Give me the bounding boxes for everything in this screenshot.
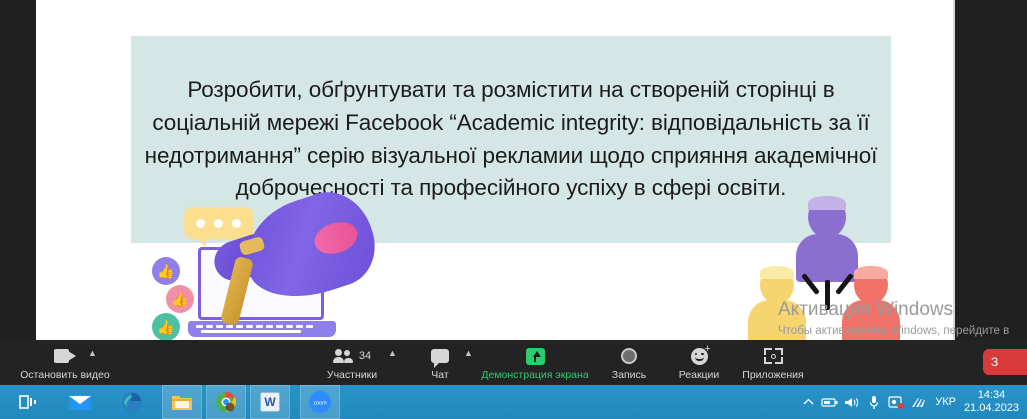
- screenshot-icon[interactable]: [885, 385, 907, 419]
- video-camera-icon: [54, 346, 76, 366]
- task-view-icon[interactable]: [8, 385, 48, 419]
- chat-bubble-graphic: [184, 207, 254, 239]
- screen: Розробити, обґрунтувати та розмістити на…: [0, 0, 1027, 419]
- reactions-label: Реакции: [679, 369, 720, 381]
- chrome-browser-icon[interactable]: [206, 385, 246, 419]
- svg-text:zoom: zoom: [313, 401, 327, 407]
- svg-text:W: W: [264, 395, 276, 409]
- bubble-dot: [232, 219, 241, 228]
- clock-date: 21.04.2023: [964, 402, 1019, 415]
- participants-count: 34: [359, 350, 371, 362]
- apps-bracket-icon: [764, 346, 783, 366]
- end-meeting-button[interactable]: З: [983, 349, 1027, 375]
- share-screen-button[interactable]: Демонстрация экрана: [482, 342, 588, 384]
- record-label: Запись: [612, 369, 646, 381]
- bubble-dot: [214, 219, 223, 228]
- keyboard-row: [196, 330, 328, 333]
- bubble-dot: [196, 219, 205, 228]
- presentation-slide: Розробити, обґрунтувати та розмістити на…: [36, 0, 955, 340]
- word-icon[interactable]: W: [250, 385, 290, 419]
- language-indicator[interactable]: УКР: [929, 396, 962, 408]
- zoom-meeting-toolbar: Остановить видео ▲ 34 Участники ▲ Чат ▲ …: [0, 340, 1027, 385]
- thumbs-up-icon: 👍: [152, 313, 180, 340]
- volume-icon[interactable]: [841, 385, 863, 419]
- stop-video-label: Остановить видео: [20, 369, 109, 381]
- reactions-button[interactable]: + Реакции: [673, 342, 725, 384]
- participants-label: Участники: [327, 369, 377, 381]
- battery-icon[interactable]: [819, 385, 841, 419]
- wifi-icon[interactable]: [907, 385, 929, 419]
- people-icon: 34: [333, 346, 371, 366]
- system-tray: УКР 14:34 21.04.2023: [797, 385, 1027, 419]
- stop-video-button[interactable]: Остановить видео: [10, 342, 120, 384]
- smiley-plus-icon: +: [691, 346, 708, 366]
- network-connector-graphic: [802, 264, 852, 310]
- windows-taskbar: W zoom: [0, 385, 1027, 419]
- clock-time: 14:34: [964, 389, 1019, 402]
- chat-button[interactable]: Чат: [418, 342, 462, 384]
- video-options-caret-icon[interactable]: ▲: [88, 348, 97, 358]
- participants-button[interactable]: 34 Участники: [312, 342, 392, 384]
- chat-bubble-icon: [431, 346, 449, 366]
- record-circle-icon: [621, 346, 637, 366]
- keyboard-row: [196, 325, 328, 328]
- shared-screen-stage: Розробити, обґрунтувати та розмістити на…: [0, 0, 1027, 340]
- mail-icon[interactable]: [60, 385, 100, 419]
- chevron-up-icon[interactable]: [797, 385, 819, 419]
- chat-label: Чат: [431, 369, 448, 381]
- thumbs-up-icon: 👍: [152, 257, 180, 285]
- file-explorer-icon[interactable]: [162, 385, 202, 419]
- zoom-app-icon[interactable]: zoom: [300, 385, 340, 419]
- people-illustration: [736, 190, 926, 340]
- chat-options-caret-icon[interactable]: ▲: [464, 348, 473, 358]
- apps-label: Приложения: [742, 369, 803, 381]
- laptop-base-graphic: [188, 321, 336, 337]
- apps-button[interactable]: Приложения: [737, 342, 809, 384]
- participants-options-caret-icon[interactable]: ▲: [388, 348, 397, 358]
- record-button[interactable]: Запись: [604, 342, 654, 384]
- share-screen-icon: [526, 346, 545, 366]
- megaphone-illustration: 👍 👍 👍: [136, 195, 396, 340]
- taskbar-clock[interactable]: 14:34 21.04.2023: [962, 389, 1027, 415]
- share-screen-label: Демонстрация экрана: [481, 369, 588, 381]
- edge-browser-icon[interactable]: [112, 385, 152, 419]
- microphone-icon[interactable]: [863, 385, 885, 419]
- thumbs-up-icon: 👍: [166, 285, 194, 313]
